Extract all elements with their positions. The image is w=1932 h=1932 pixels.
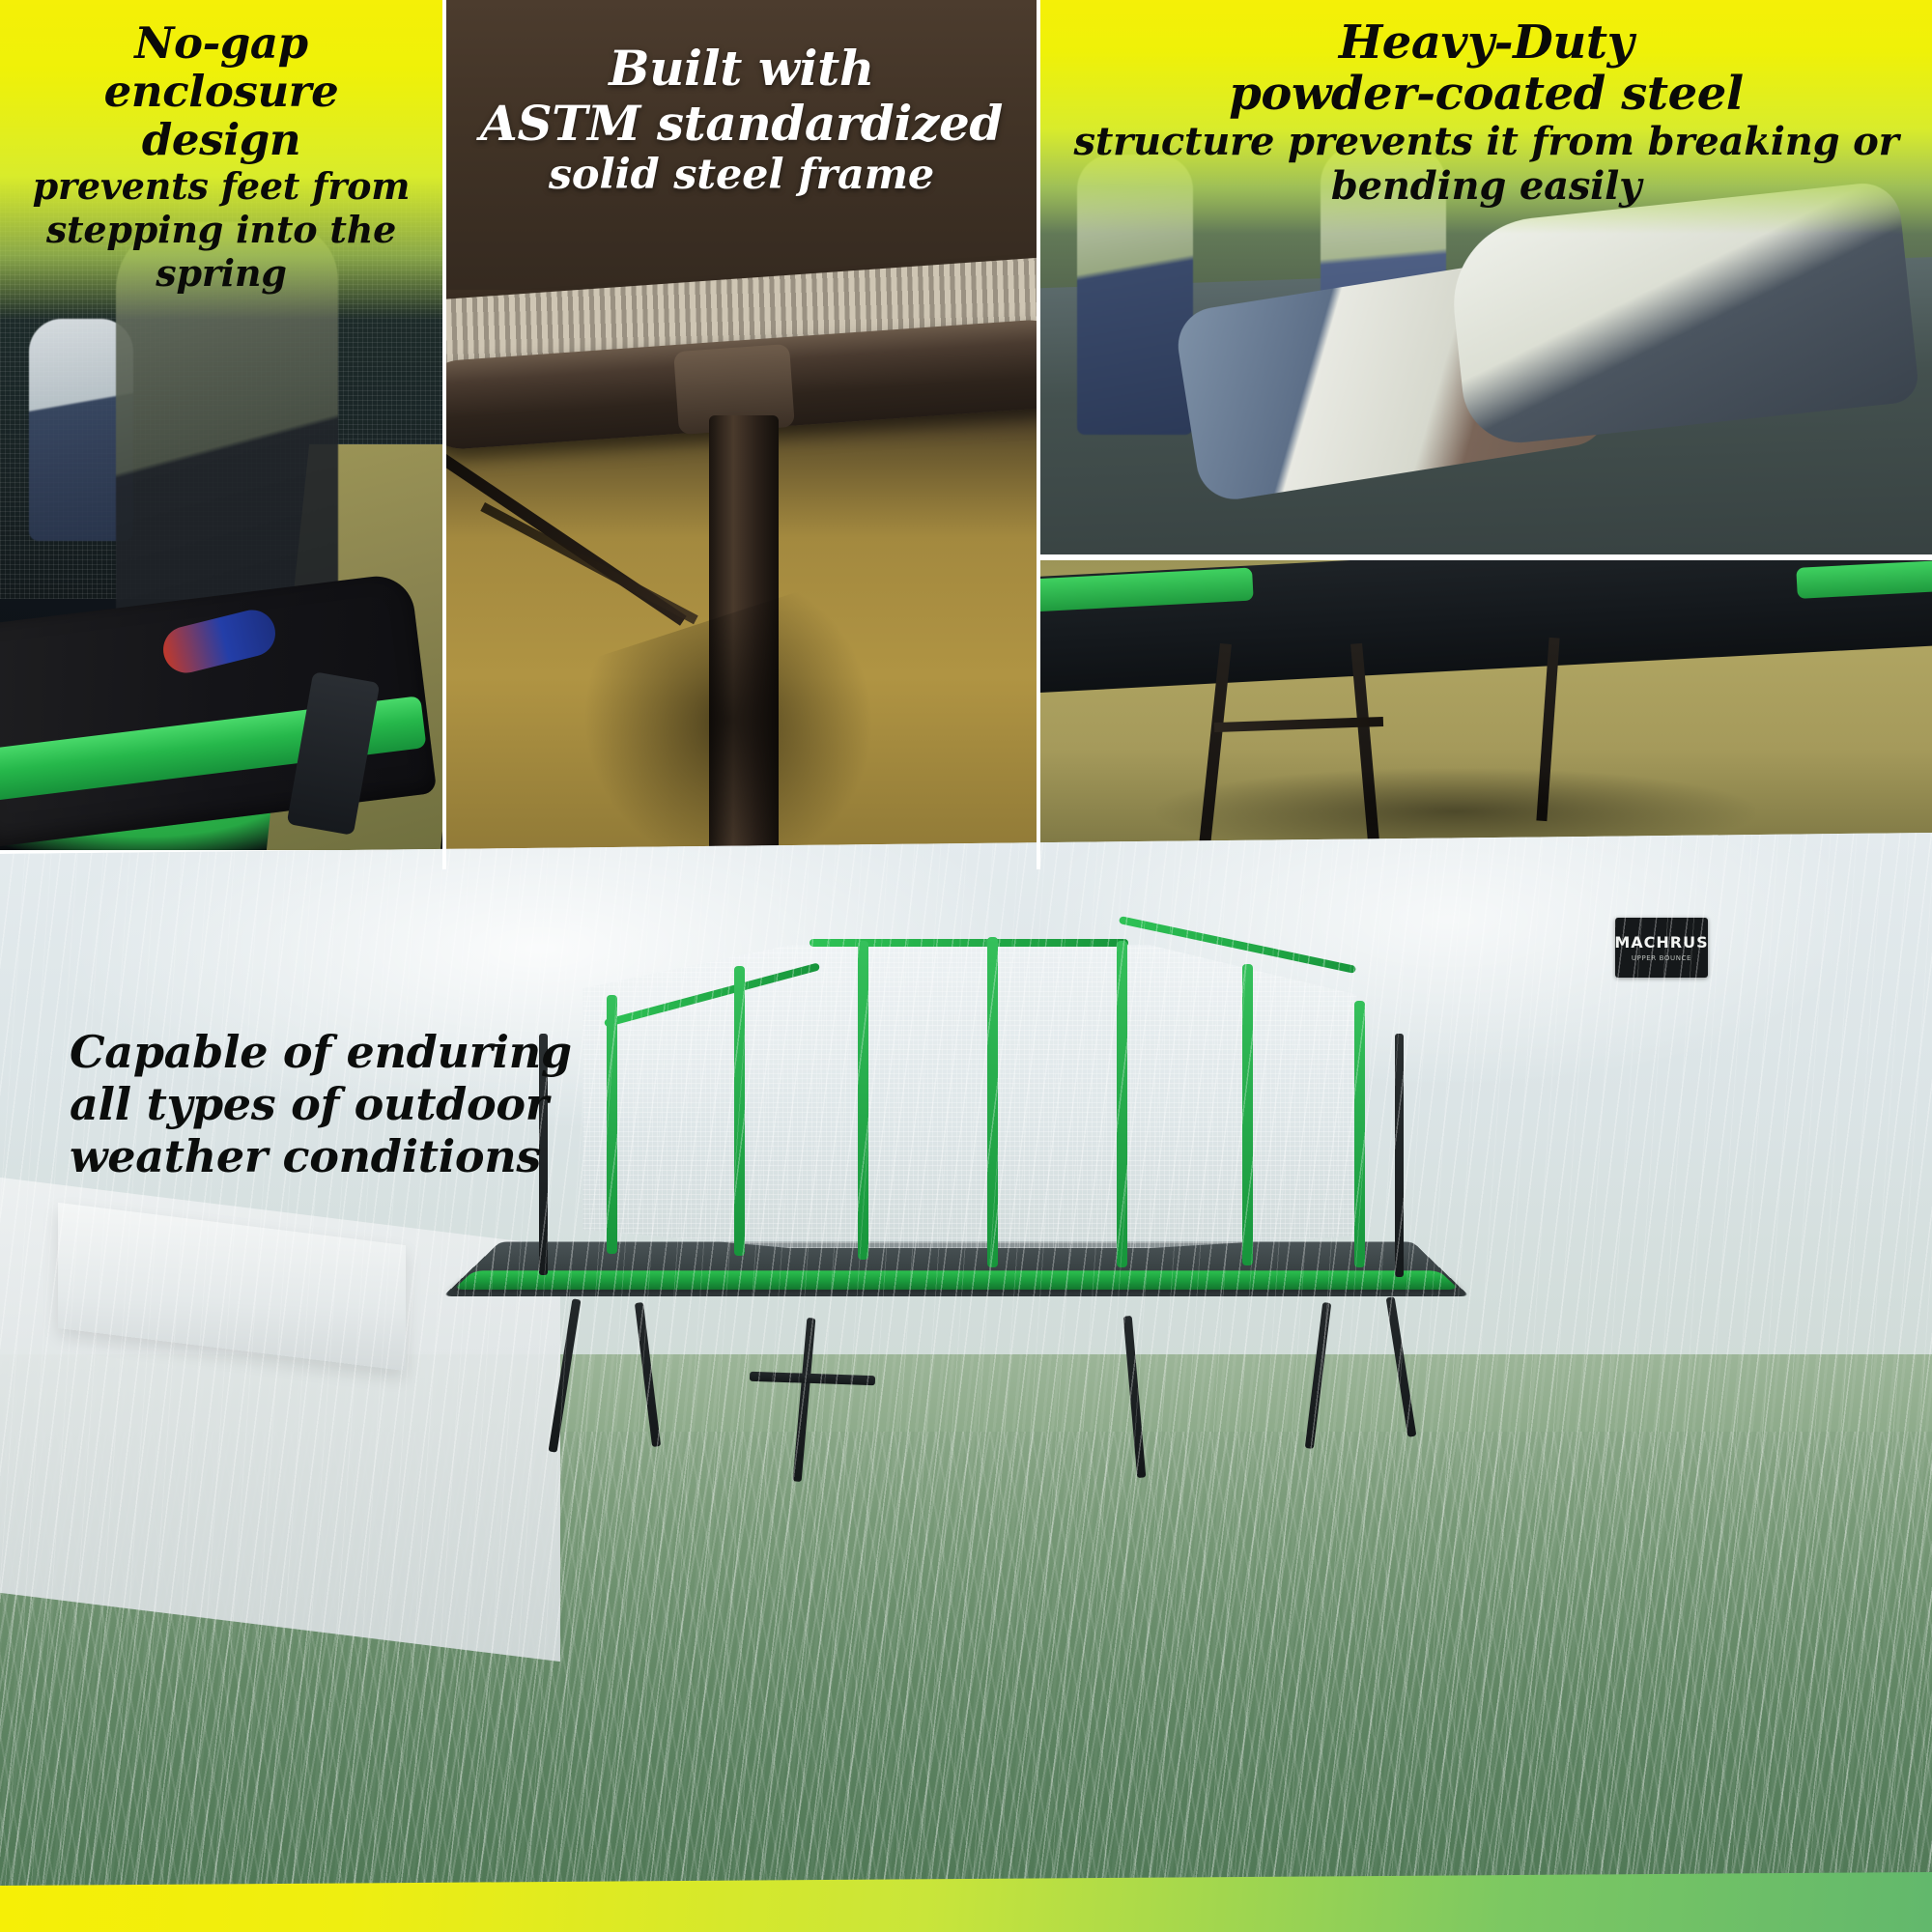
ground-shadow xyxy=(559,580,913,867)
net-post-5 xyxy=(1117,941,1127,1267)
hero-leg-6 xyxy=(1386,1296,1417,1437)
net-post-3 xyxy=(858,941,868,1260)
panel-divider-1 xyxy=(442,0,446,869)
panel-2-subline: solid steel frame xyxy=(464,151,1019,199)
hero-caption-line-3: weather conditions xyxy=(70,1130,572,1182)
hero-trampoline: MACHRUS UPPER BOUNCE xyxy=(551,920,1517,1422)
panel-3-sub-divider xyxy=(1040,554,1932,558)
net-post-6 xyxy=(1242,964,1253,1265)
hero-panel-weather-resistance: MACHRUS UPPER BOUNCE Capable of enduring… xyxy=(0,833,1932,1886)
panel-2-headline-line-1: Built with xyxy=(464,41,1019,96)
net-post-1 xyxy=(607,995,617,1254)
frame-brace-lower xyxy=(480,502,697,624)
net-post-4 xyxy=(987,937,998,1267)
panel-3-subline: structure prevents it from breaking or b… xyxy=(1058,120,1915,209)
feature-panel-astm-steel-frame: Built with ASTM standardized solid steel… xyxy=(446,0,1037,867)
panel-1-headline-line-1: No-gap xyxy=(17,19,425,68)
hero-caption: Capable of enduring all types of outdoor… xyxy=(70,1026,572,1182)
machrus-logo-badge: MACHRUS UPPER BOUNCE xyxy=(1615,918,1708,978)
panel-3-photo-bottom xyxy=(1040,560,1932,850)
panel-3-headline-line-2: powder-coated steel xyxy=(1058,69,1915,120)
feature-panel-heavy-duty-steel: Heavy-Duty powder-coated steel structure… xyxy=(1040,0,1932,850)
hero-green-safety-pad xyxy=(453,1270,1459,1290)
panel-1-subline: prevents feet from stepping into the spr… xyxy=(17,164,425,295)
hero-enclosure-net xyxy=(531,939,1391,1248)
panel-3-headline-line-1: Heavy-Duty xyxy=(1058,17,1915,69)
feature-panel-no-gap-enclosure: No-gap enclosure design prevents feet fr… xyxy=(0,0,442,850)
net-post-7 xyxy=(1354,1001,1365,1267)
net-pole-far-right xyxy=(1395,1034,1404,1277)
panel-2-text-band: Built with ASTM standardized solid steel… xyxy=(446,0,1037,224)
panel-1-text-band: No-gap enclosure design prevents feet fr… xyxy=(0,0,442,320)
infographic-page: No-gap enclosure design prevents feet fr… xyxy=(0,0,1932,1932)
top-panel-row: No-gap enclosure design prevents feet fr… xyxy=(0,0,1932,869)
logo-tagline: UPPER BOUNCE xyxy=(1632,954,1691,962)
panel-1-headline-line-2: enclosure design xyxy=(17,68,425,164)
hero-caption-line-2: all types of outdoor xyxy=(70,1078,572,1130)
logo-brand-name: MACHRUS xyxy=(1614,933,1708,952)
panel-3-text-band: Heavy-Duty powder-coated steel structure… xyxy=(1040,0,1932,234)
panel-divider-2 xyxy=(1037,0,1040,869)
panel-2-headline-line-2: ASTM standardized xyxy=(464,96,1019,151)
net-post-2 xyxy=(734,966,745,1256)
hero-leg-brace xyxy=(750,1372,875,1386)
hero-caption-line-1: Capable of enduring xyxy=(70,1026,572,1078)
